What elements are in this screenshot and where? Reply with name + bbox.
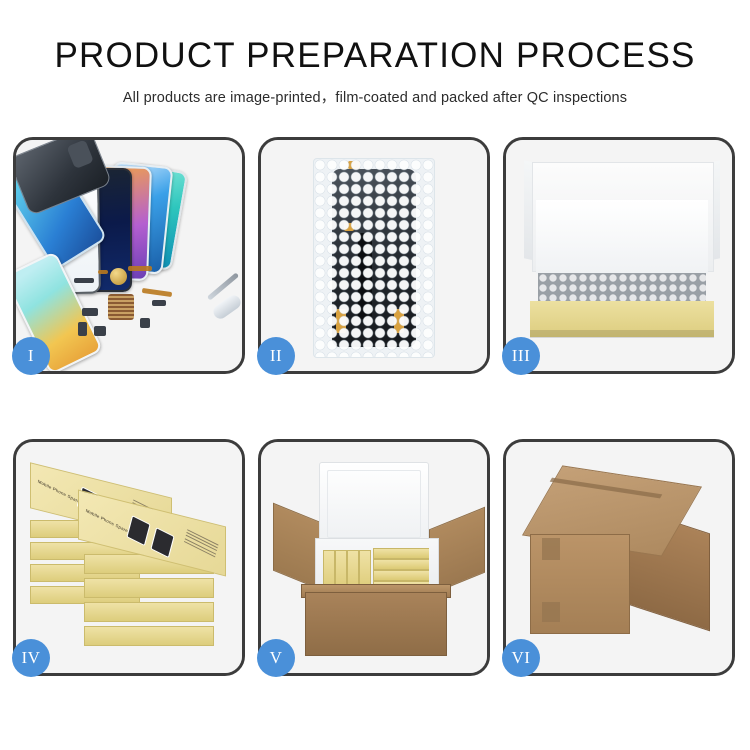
step-4-image: Mobile Phone Spare Parts Mobile Phone Sp… xyxy=(16,442,242,673)
step-badge-1: I xyxy=(12,337,50,375)
flex-cable-long-icon xyxy=(142,288,172,297)
screwdriver-icon xyxy=(211,293,242,322)
component-camera-icon xyxy=(140,318,150,328)
bubble-wrap-fill xyxy=(538,273,706,303)
box-stack-slab xyxy=(84,602,214,622)
carton-tape-lower xyxy=(542,602,560,622)
process-step-grid: I II xyxy=(13,137,739,676)
process-step-panel-2: II xyxy=(258,137,490,374)
box-shadow xyxy=(530,330,714,338)
component-battery-icon xyxy=(78,322,87,336)
carton-front-panel xyxy=(305,592,447,656)
flex-cable-small-icon xyxy=(98,270,108,274)
box-stack-slab xyxy=(84,626,214,646)
chip-grid-icon xyxy=(108,294,134,320)
carton-tape-upper xyxy=(542,538,560,560)
step-5-image xyxy=(261,442,487,673)
component-speaker-icon xyxy=(94,326,106,336)
flex-cable-icon xyxy=(128,266,152,271)
box-phone-image-1 xyxy=(126,515,150,546)
process-step-panel-1: I xyxy=(13,137,245,374)
process-step-panel-5: V xyxy=(258,439,490,676)
component-connector-icon xyxy=(152,300,166,306)
bubble-texture xyxy=(314,159,434,357)
box-spec-lines xyxy=(184,529,219,559)
product-preparation-page: PRODUCT PREPARATION PROCESS All products… xyxy=(0,0,750,750)
box-phone-image-2 xyxy=(150,527,174,558)
inner-box xyxy=(373,559,429,570)
step-badge-5: V xyxy=(257,639,295,677)
component-small-icon xyxy=(82,308,98,316)
bubble-wrap-bag xyxy=(313,158,435,358)
page-subtitle: All products are image-printed，film-coat… xyxy=(0,86,750,107)
step-6-image xyxy=(506,442,732,673)
step-1-image xyxy=(16,140,242,371)
inner-box xyxy=(373,548,429,559)
foam-cooler-lid xyxy=(319,462,429,546)
process-step-panel-6: VI xyxy=(503,439,735,676)
page-header: PRODUCT PREPARATION PROCESS All products… xyxy=(0,0,750,107)
step-badge-2: II xyxy=(257,337,295,375)
inner-box xyxy=(373,570,429,581)
box-stack-slab xyxy=(84,578,214,598)
step-badge-4: IV xyxy=(12,639,50,677)
component-bar-icon xyxy=(74,278,94,283)
foam-sheet xyxy=(536,200,708,274)
step-2-image xyxy=(261,140,487,371)
process-step-panel-3: III xyxy=(503,137,735,374)
copper-coil-icon xyxy=(110,268,127,285)
page-title: PRODUCT PREPARATION PROCESS xyxy=(0,38,750,75)
step-badge-6: VI xyxy=(502,639,540,677)
step-3-image xyxy=(506,140,732,371)
process-step-panel-4: Mobile Phone Spare Parts Mobile Phone Sp… xyxy=(13,439,245,676)
step-badge-3: III xyxy=(502,337,540,375)
